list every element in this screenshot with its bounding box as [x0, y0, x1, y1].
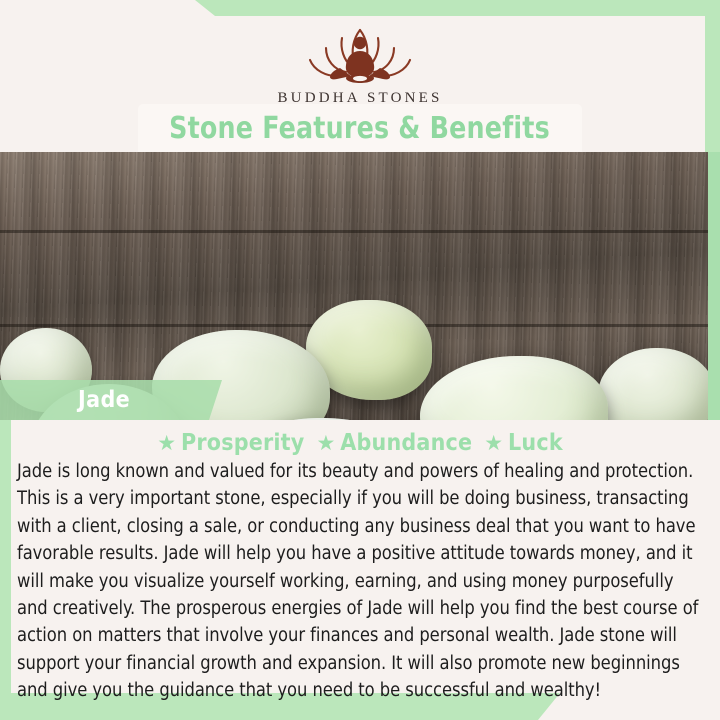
keyword-prosperity: Prosperity: [181, 430, 304, 456]
star-icon: ★: [484, 432, 503, 455]
stone-keywords: ★Prosperity★Abundance★Luck: [0, 430, 720, 456]
star-icon: ★: [316, 432, 335, 455]
page-title: Stone Features & Benefits: [170, 111, 551, 146]
green-photo-edge-accent: [708, 152, 720, 420]
star-icon: ★: [157, 432, 176, 455]
green-left-accent-strip: [0, 372, 11, 720]
poster-header: BUDDHA STONES: [0, 0, 720, 110]
lotus-meditation-icon: [296, 18, 424, 88]
stone-info-poster: BUDDHA STONES Stone Features & Benefits …: [0, 0, 720, 720]
stone-name: Jade: [78, 387, 130, 413]
stone-photo: [0, 152, 720, 420]
keyword-abundance: Abundance: [340, 430, 472, 456]
brand-logo: BUDDHA STONES: [0, 18, 720, 107]
wood-grain-seam: [0, 230, 720, 233]
keyword-luck: Luck: [508, 430, 563, 456]
stone-description: Jade is long known and valued for its be…: [17, 458, 705, 705]
stone-name-band: Jade: [0, 380, 222, 420]
title-banner: Stone Features & Benefits: [138, 104, 582, 152]
